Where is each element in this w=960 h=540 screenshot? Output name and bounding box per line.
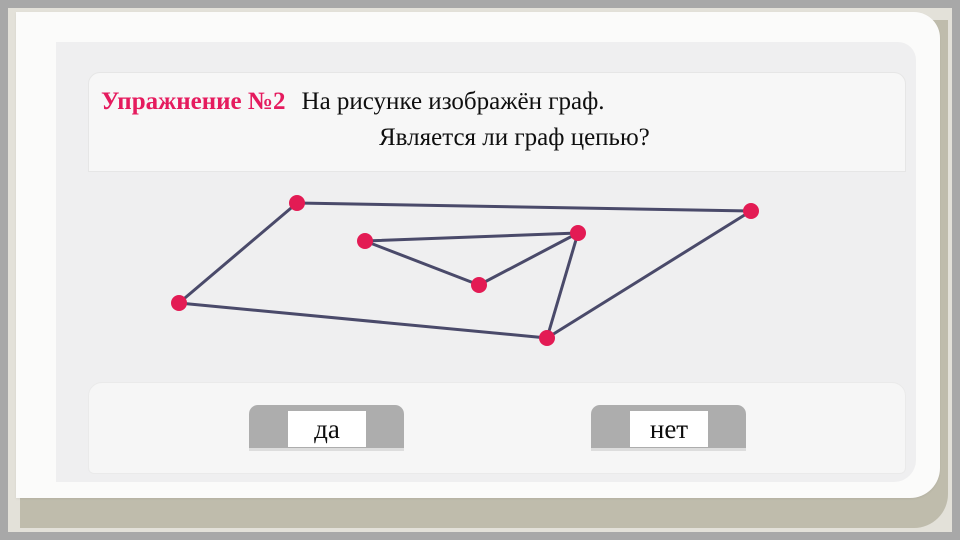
graph-vertex-left-vertex bbox=[171, 295, 187, 311]
graph-figure bbox=[56, 172, 916, 372]
graph-vertex-top-left-vertex bbox=[289, 195, 305, 211]
answer-yes-label[interactable]: да bbox=[288, 411, 366, 447]
graph-edge bbox=[365, 233, 578, 241]
slide-frame: Упражнение №2На рисунке изображён граф. … bbox=[8, 8, 952, 532]
slide-surface: Упражнение №2На рисунке изображён граф. … bbox=[16, 12, 940, 498]
graph-vertex-right-vertex bbox=[743, 203, 759, 219]
answers-panel: да нет bbox=[88, 382, 906, 474]
graph-edge bbox=[179, 203, 297, 303]
graph-svg bbox=[56, 172, 916, 372]
content-panel: Упражнение №2На рисунке изображён граф. … bbox=[56, 42, 916, 482]
question-text-block: Упражнение №2На рисунке изображён граф. … bbox=[101, 84, 895, 156]
question-line-2: Является ли граф цепью? bbox=[101, 120, 895, 156]
graph-edge bbox=[365, 241, 479, 285]
graph-vertex-mid-left-vertex bbox=[357, 233, 373, 249]
question-text-line-1: На рисунке изображён граф. bbox=[302, 84, 605, 120]
graph-edge bbox=[479, 233, 578, 285]
answer-button-no[interactable]: нет bbox=[591, 405, 746, 448]
question-text-line-2: Является ли граф цепью? bbox=[379, 120, 650, 156]
question-line-1: Упражнение №2На рисунке изображён граф. bbox=[101, 84, 895, 120]
graph-edge bbox=[297, 203, 751, 211]
graph-edge bbox=[179, 303, 547, 338]
graph-vertex-center-lower-vertex bbox=[471, 277, 487, 293]
exercise-label: Упражнение №2 bbox=[101, 84, 286, 120]
question-box: Упражнение №2На рисунке изображён граф. … bbox=[88, 72, 906, 172]
graph-vertex-bottom-vertex bbox=[539, 330, 555, 346]
graph-vertex-mid-right-vertex bbox=[570, 225, 586, 241]
answer-no-label[interactable]: нет bbox=[630, 411, 708, 447]
answer-button-yes[interactable]: да bbox=[249, 405, 404, 448]
